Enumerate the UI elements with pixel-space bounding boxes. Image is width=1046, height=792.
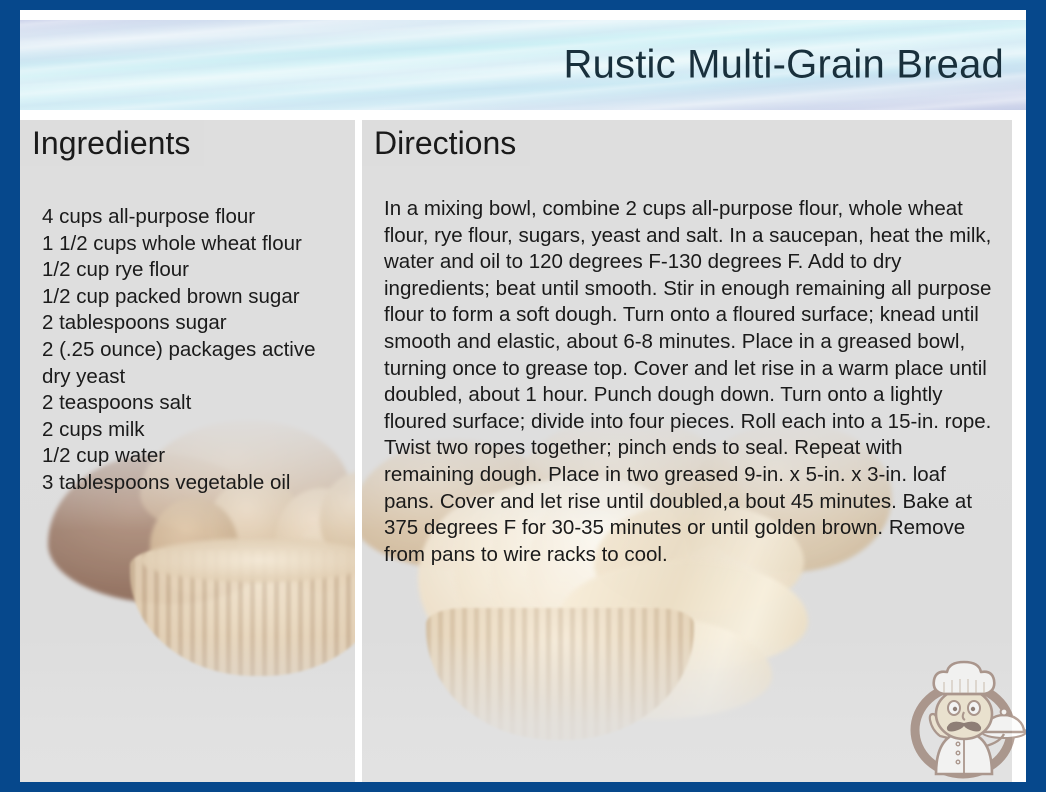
directions-body: In a mixing bowl, combine 2 cups all-pur… xyxy=(384,196,992,568)
list-item: 2 cups milk xyxy=(42,417,342,444)
list-item: 1/2 cup rye flour xyxy=(42,257,342,284)
panels-container: Ingredients 4 cups all-purpose flour 1 1… xyxy=(20,120,1026,782)
list-item: 2 teaspoons salt xyxy=(42,390,342,417)
list-item: 1/2 cup packed brown sugar xyxy=(42,284,342,311)
title-banner: Rustic Multi-Grain Bread xyxy=(20,20,1026,110)
directions-heading: Directions xyxy=(362,120,530,166)
directions-tab-notch xyxy=(520,120,1012,166)
photo-fade-bottom xyxy=(20,636,355,782)
recipe-card: Rustic Multi-Grain Bread Ingredie xyxy=(0,0,1046,792)
list-item: 3 tablespoons vegetable oil xyxy=(42,470,342,497)
list-item: 1 1/2 cups whole wheat flour xyxy=(42,231,342,258)
list-item: 2 tablespoons sugar xyxy=(42,310,342,337)
ingredients-heading: Ingredients xyxy=(20,120,204,166)
list-item: 4 cups all-purpose flour xyxy=(42,204,342,231)
list-item: 1/2 cup water xyxy=(42,443,342,470)
page-title: Rustic Multi-Grain Bread xyxy=(564,43,1004,88)
list-item: 2 (.25 ounce) packages active dry yeast xyxy=(42,337,342,390)
chef-mascot-logo xyxy=(900,652,1030,782)
ingredients-panel: Ingredients 4 cups all-purpose flour 1 1… xyxy=(20,120,355,782)
ingredients-list: 4 cups all-purpose flour 1 1/2 cups whol… xyxy=(42,204,342,497)
ingredients-tab-notch xyxy=(196,120,355,166)
